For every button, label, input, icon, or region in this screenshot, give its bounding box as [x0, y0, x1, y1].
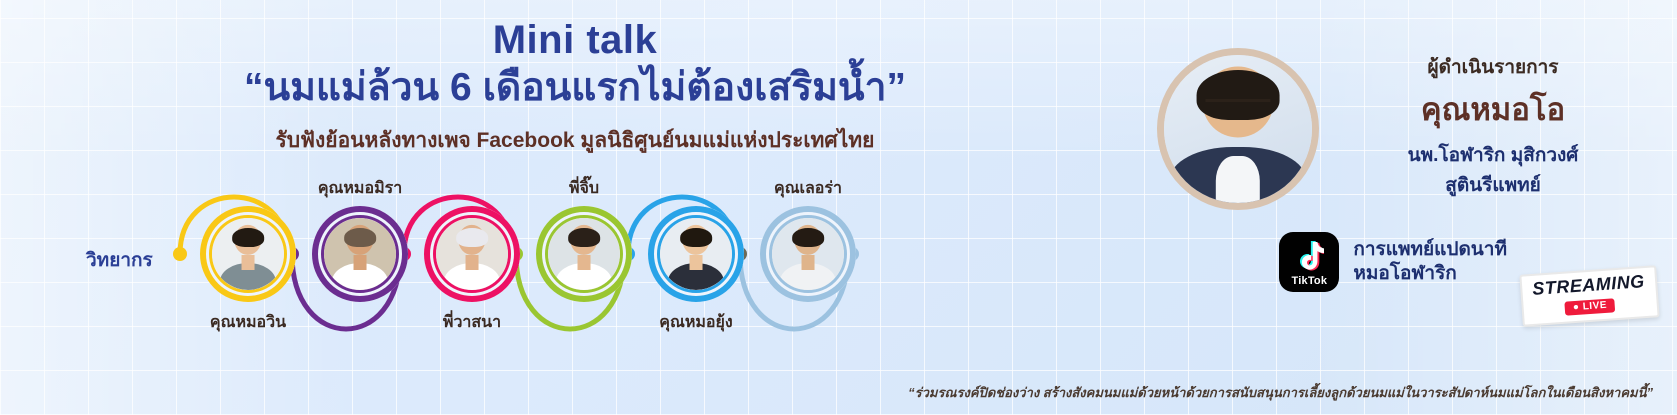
tiktok-icon[interactable]: TikTok — [1279, 232, 1339, 292]
footer-caption: “ร่วมรณรงค์ปิดช่องว่าง สร้างสังคมนมแม่ด้… — [908, 382, 1653, 403]
speaker-name: พี่วาสนา — [372, 310, 572, 335]
speaker-node-2[interactable]: คุณหมอมิรา — [312, 206, 408, 302]
channel-name-line2: หมอโอฬาริก — [1353, 262, 1507, 286]
live-indicator: ● LIVE — [1564, 298, 1615, 315]
channel-name-line1: การแพทย์แปดนาที — [1353, 238, 1507, 262]
host-name: คุณหมอโอ — [1337, 84, 1649, 134]
speaker-node-4[interactable]: พี่จิ๊บ — [536, 206, 632, 302]
speakers-label: วิทยากร — [86, 245, 153, 275]
title-block: Mini talk “นมแม่ล้วน 6 เดือนแรกไม่ต้องเส… — [0, 18, 1150, 154]
talk-topic: “นมแม่ล้วน 6 เดือนแรกไม่ต้องเสริมน้ำ” — [0, 64, 1150, 113]
speaker-name: คุณหมอยุ้ง — [596, 310, 796, 335]
tiktok-channel[interactable]: TikTok การแพทย์แปดนาที หมอโอฬาริก — [1279, 232, 1507, 292]
streaming-label: STREAMING — [1531, 271, 1645, 300]
host-fullname: นพ.โอฬาริก มุสิกวงศ์ — [1337, 140, 1649, 170]
host-panel: ผู้ดำเนินรายการ คุณหมอโอ นพ.โอฬาริก มุสิ… — [1157, 28, 1657, 228]
speaker-name: คุณหมอวิน — [148, 310, 348, 335]
timeline-dot-1 — [173, 247, 187, 261]
speaker-timeline: วิทยากร — [0, 190, 1060, 360]
page-title: Mini talk — [0, 18, 1150, 62]
tiktok-label: TikTok — [1279, 275, 1339, 287]
speaker-name: คุณหมอมิรา — [260, 176, 460, 201]
speaker-name: คุณเลอร่า — [708, 176, 908, 201]
speaker-node-3[interactable]: พี่วาสนา — [424, 206, 520, 302]
host-specialty: สูตินรีแพทย์ — [1337, 170, 1649, 200]
speaker-name: พี่จิ๊บ — [484, 176, 684, 201]
streaming-badge: STREAMING ● LIVE — [1519, 265, 1659, 326]
host-role: ผู้ดำเนินรายการ — [1337, 52, 1649, 82]
speaker-node-6[interactable]: คุณเลอร่า — [760, 206, 856, 302]
watch-info: รับฟังย้อนหลังทางเพจ Facebook มูลนิธิศูน… — [0, 127, 1150, 154]
speaker-node-5[interactable]: คุณหมอยุ้ง — [648, 206, 744, 302]
host-avatar — [1157, 48, 1319, 210]
promo-banner: Mini talk “นมแม่ล้วน 6 เดือนแรกไม่ต้องเส… — [0, 0, 1677, 415]
speaker-node-1[interactable]: คุณหมอวิน — [200, 206, 296, 302]
